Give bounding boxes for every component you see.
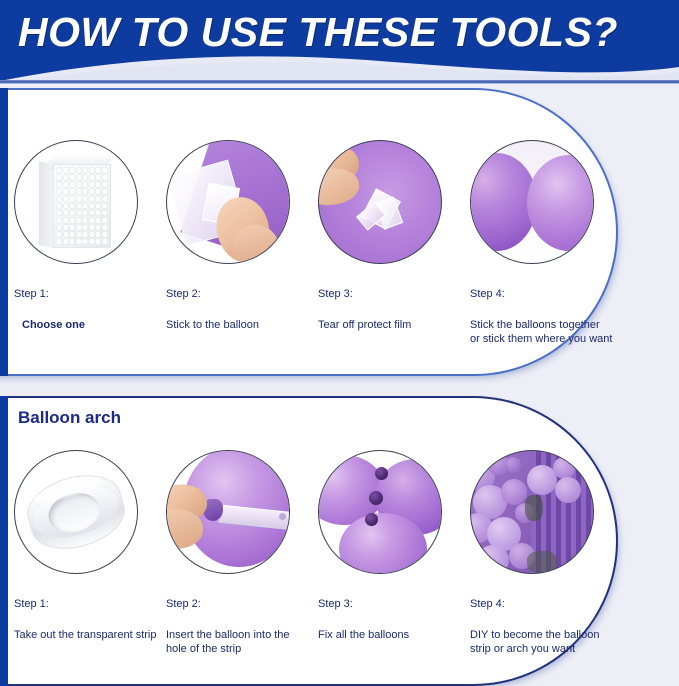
step-item: Step 3: Fix all the balloons (318, 450, 470, 670)
header-underline (0, 80, 679, 84)
panel-bottom-left-accent (0, 396, 8, 686)
steps-row-balloon-arch: Step 1: Take out the transparent strip S… (14, 450, 654, 670)
strip-hole (279, 513, 286, 520)
step-text: Insert the balloon into the hole of the … (166, 628, 318, 656)
step-text: Take out the transparent strip (14, 628, 166, 642)
hand-inserting-balloon-into-strip-photo (166, 450, 290, 574)
garland-balloon (501, 479, 527, 505)
panel-top-left-accent (0, 88, 8, 376)
step-label: Step 2: (166, 597, 318, 611)
garland-balloon (553, 457, 575, 479)
step-caption: Step 2: Stick to the balloon (166, 273, 318, 346)
balloon-knot (369, 491, 383, 505)
step-caption: Step 3: Tear off protect film (318, 273, 470, 346)
step-caption: Step 4: DIY to become the balloon strip … (470, 583, 622, 670)
section-title-balloon-arch: Balloon arch (18, 408, 121, 428)
step-caption: Step 4: Stick the balloons together or s… (470, 273, 622, 360)
step-caption: Step 1: Take out the transparent strip (14, 583, 166, 656)
garland-balloon (505, 457, 521, 473)
step-label: Step 3: (318, 287, 470, 301)
step-caption: Step 3: Fix all the balloons (318, 583, 470, 656)
glue-dot-sheet-stack-photo (14, 140, 138, 264)
step-caption: Step 1: Choose one (14, 273, 166, 346)
foliage-accent (525, 495, 543, 521)
step-text: Stick to the balloon (166, 318, 318, 332)
step-label: Step 1: (14, 597, 166, 611)
step-caption: Step 2: Insert the balloon into the hole… (166, 583, 318, 670)
step-item: Step 2: Insert the balloon into the hole… (166, 450, 318, 670)
step-item: Step 4: Stick the balloons together or s… (470, 140, 622, 360)
steps-row-glue-dots: Step 1: Choose one Step 2: Stick to the … (14, 140, 654, 360)
step-text: DIY to become the balloon strip or arch … (470, 628, 622, 656)
foliage-accent (527, 551, 557, 573)
garland-balloon (555, 477, 581, 503)
infographic-page: HOW TO USE THESE TOOLS? (0, 0, 679, 679)
step-item: Step 3: Tear off protect film (318, 140, 470, 360)
balloon-knot (365, 513, 378, 526)
step-label: Step 3: (318, 597, 470, 611)
step-item: Step 1: Choose one (14, 140, 166, 360)
step-text: Fix all the balloons (318, 628, 470, 642)
hand-sticking-glue-dot-photo (166, 140, 290, 264)
purple-balloon-garland-arch-photo (470, 450, 594, 574)
step-text: Stick the balloons together or stick the… (470, 318, 622, 346)
three-balloons-fixed-photo (318, 450, 442, 574)
glue-dot-sheet-graphic (39, 156, 113, 248)
peeling-protect-film-photo (318, 140, 442, 264)
header-wave-decoration (0, 47, 679, 82)
step-item: Step 2: Stick to the balloon (166, 140, 318, 360)
step-label: Step 4: (470, 287, 622, 301)
step-text: Tear off protect film (318, 318, 470, 332)
two-balloons-joined-photo (470, 140, 594, 264)
step-item: Step 1: Take out the transparent strip (14, 450, 166, 670)
tape-roll-graphic (20, 465, 132, 559)
balloon-knot (375, 467, 388, 480)
garland-balloon (477, 545, 509, 574)
step-item: Step 4: DIY to become the balloon strip … (470, 450, 622, 670)
step-label: Step 4: (470, 597, 622, 611)
step-label: Step 2: (166, 287, 318, 301)
balloon-right (527, 155, 594, 251)
header-banner: HOW TO USE THESE TOOLS? (0, 0, 679, 82)
transparent-tape-roll-photo (14, 450, 138, 574)
step-label: Step 1: (14, 287, 166, 301)
step-text: Choose one (14, 318, 166, 332)
